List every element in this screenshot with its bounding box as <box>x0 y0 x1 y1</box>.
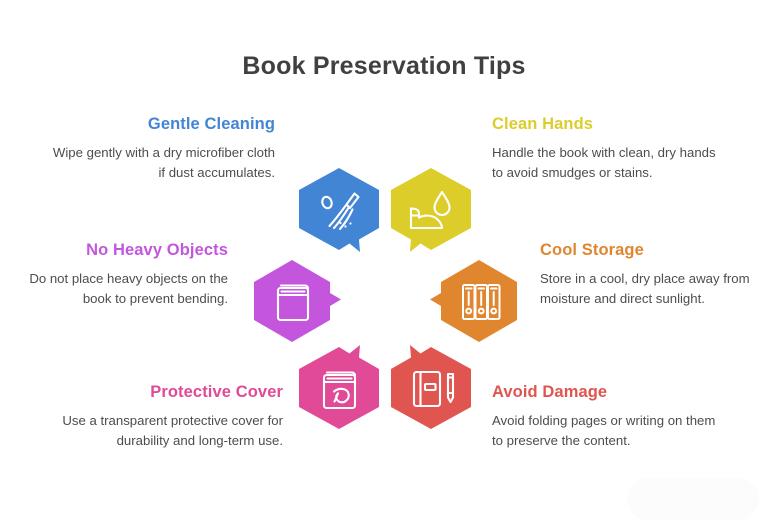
tip-heading-cool-storage: Cool Storage <box>540 240 768 260</box>
tip-body-gentle-cleaning: Wipe gently with a dry microfiber cloth … <box>45 143 275 182</box>
page-title: Book Preservation Tips <box>0 52 768 81</box>
tip-block-no-heavy-objects: No Heavy Objects Do not place heavy obje… <box>0 240 228 308</box>
hex-badge-no-heavy-objects <box>250 257 334 352</box>
tip-heading-clean-hands: Clean Hands <box>492 114 722 134</box>
hexagon-shape-red <box>391 345 471 429</box>
tip-heading-no-heavy-objects: No Heavy Objects <box>0 240 228 260</box>
hex-badge-cool-storage <box>437 257 521 352</box>
tip-body-no-heavy-objects: Do not place heavy objects on the book t… <box>0 269 228 308</box>
hex-badge-gentle-cleaning <box>297 168 381 263</box>
tip-body-cool-storage: Store in a cool, dry place away from moi… <box>540 269 768 308</box>
tip-body-clean-hands: Handle the book with clean, dry hands to… <box>492 143 722 182</box>
tip-heading-protective-cover: Protective Cover <box>55 382 283 402</box>
tip-block-protective-cover: Protective Cover Use a transparent prote… <box>55 382 283 450</box>
infographic-canvas: Book Preservation Tips Gentle Cleaning W… <box>0 0 768 528</box>
tip-body-avoid-damage: Avoid folding pages or writing on them t… <box>492 411 722 450</box>
hex-badge-protective-cover <box>297 344 381 439</box>
tip-heading-gentle-cleaning: Gentle Cleaning <box>45 114 275 134</box>
tip-block-avoid-damage: Avoid Damage Avoid folding pages or writ… <box>492 382 722 450</box>
tip-block-gentle-cleaning: Gentle Cleaning Wipe gently with a dry m… <box>45 114 275 182</box>
hexagon-shape-pink <box>299 345 379 429</box>
hex-badge-clean-hands <box>389 168 473 263</box>
hex-badge-avoid-damage <box>389 344 473 439</box>
hexagon-shape-blue <box>299 168 379 252</box>
tip-block-clean-hands: Clean Hands Handle the book with clean, … <box>492 114 722 182</box>
tip-block-cool-storage: Cool Storage Store in a cool, dry place … <box>540 240 768 308</box>
tip-body-protective-cover: Use a transparent protective cover for d… <box>55 411 283 450</box>
hexagon-shape-purple <box>254 260 341 342</box>
watermark-shape <box>627 478 759 520</box>
tip-heading-avoid-damage: Avoid Damage <box>492 382 722 402</box>
hexagon-shape-yellow <box>391 168 471 252</box>
